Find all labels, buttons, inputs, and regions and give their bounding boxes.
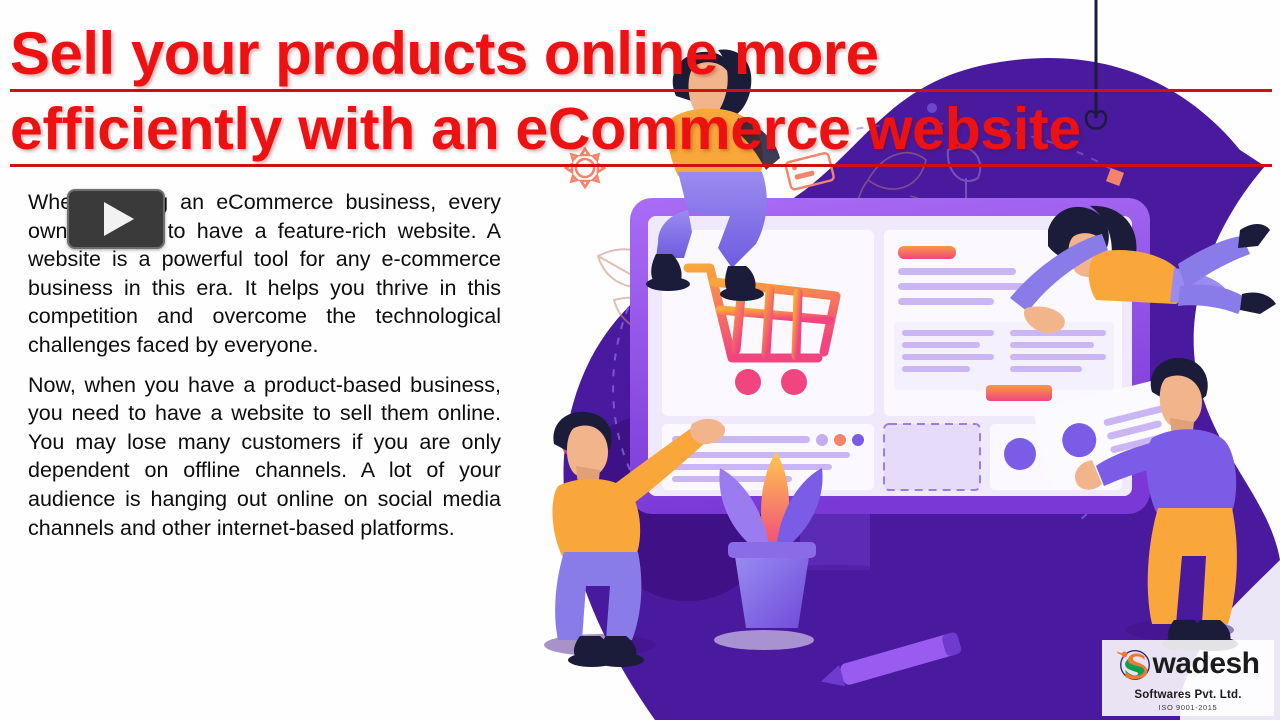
- dashed-arc-left: [613, 200, 730, 470]
- person-pointing-at-screen: [544, 412, 725, 667]
- person-legs-upper-right: [1178, 224, 1276, 314]
- list-panel: [662, 424, 874, 490]
- pencil: [818, 631, 962, 692]
- title-line-2: efficiently with an eCommerce website: [10, 95, 1272, 167]
- blob-right-cutout: [1194, 150, 1280, 560]
- person-holding-card: [1033, 358, 1238, 651]
- swadesh-s-mark-icon: [1116, 645, 1154, 683]
- dot-2: [834, 434, 846, 446]
- dot-3: [852, 434, 864, 446]
- logo-certification: ISO 9001-2015: [1102, 702, 1274, 713]
- percent-icon: [1096, 296, 1128, 326]
- slide-title: Sell your products online more efficient…: [10, 20, 1272, 170]
- slide-canvas: Sell your products online more efficient…: [0, 0, 1280, 720]
- avatar: [1004, 438, 1036, 470]
- logo-lockup: wadesh: [1102, 640, 1274, 688]
- dashed-placeholder: [884, 424, 980, 490]
- content-panel: [884, 230, 1122, 416]
- tag-badge: [898, 246, 956, 259]
- logo-subtitle: Softwares Pvt. Ltd.: [1102, 688, 1274, 702]
- cart-wheel-left: [735, 369, 761, 395]
- woman-reading-on-screen: [1010, 206, 1228, 333]
- play-button[interactable]: [67, 189, 165, 249]
- leaf-decoration: [598, 249, 676, 332]
- potted-plant: [714, 452, 823, 650]
- cart-panel: [662, 230, 874, 416]
- monitor-bezel: [630, 198, 1150, 514]
- cart-wheel-right: [781, 369, 807, 395]
- avatar-panel: [990, 424, 1122, 490]
- monitor-screen: [648, 216, 1132, 496]
- shopping-cart-icon: [688, 268, 836, 358]
- dot-1: [816, 434, 828, 446]
- dashed-arc-right: [1080, 330, 1125, 520]
- held-card: [1033, 374, 1198, 490]
- company-logo: wadesh Softwares Pvt. Ltd. ISO 9001-2015: [1102, 640, 1274, 716]
- play-badge-icon: [561, 429, 589, 457]
- paragraph-2: Now, when you have a product-based busin…: [28, 371, 501, 543]
- cta-button: [986, 385, 1052, 401]
- play-triangle-icon: [104, 202, 134, 236]
- content-text-lines: [898, 268, 1048, 305]
- coral-square-decoration: [1106, 168, 1124, 186]
- desktop-monitor: [630, 198, 1150, 591]
- logo-wordmark: wadesh: [1152, 645, 1259, 683]
- title-line-1: Sell your products online more: [10, 20, 1272, 92]
